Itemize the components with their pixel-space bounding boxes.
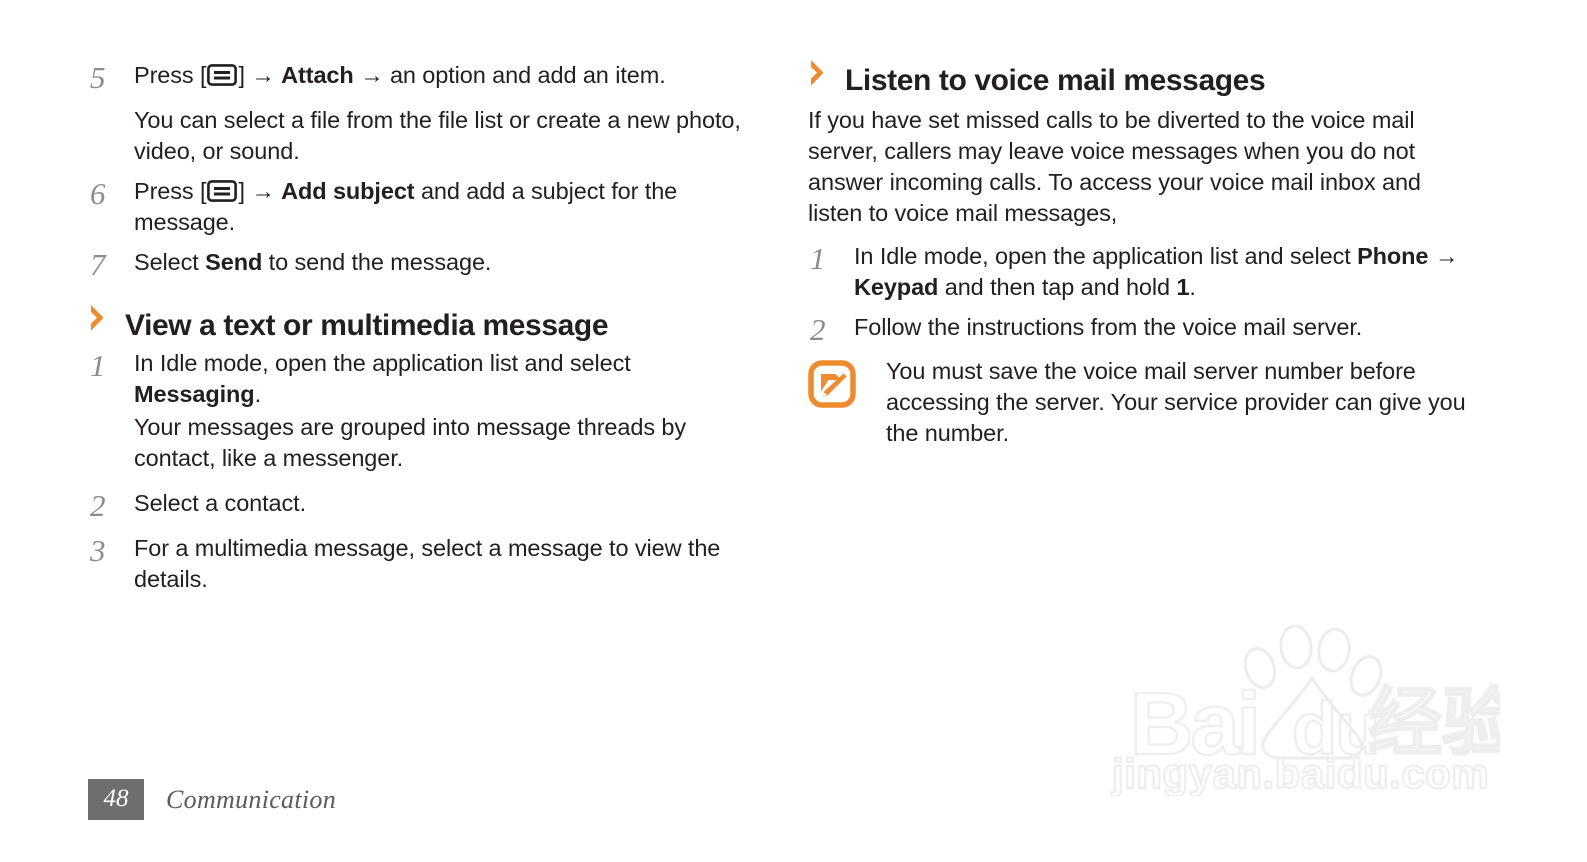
section-heading-voice-mail: Listen to voice mail messages (808, 60, 1468, 97)
list-item: 2 Select a contact. (88, 488, 748, 524)
step-number: 3 (88, 533, 134, 569)
list-item: 2 Follow the instructions from the voice… (808, 312, 1468, 348)
step-tail-text: . (255, 381, 261, 407)
list-item: 1 In Idle mode, open the application lis… (88, 348, 748, 410)
step-text: Follow the instructions from the voice m… (854, 312, 1468, 343)
step-continuation: Your messages are grouped into message t… (134, 412, 748, 474)
svg-text:jingyan.baidu.com: jingyan.baidu.com (1111, 750, 1489, 796)
step-mid-text: and then tap and hold (938, 274, 1176, 300)
step-number: 5 (88, 60, 134, 96)
chapter-label: Communication (166, 785, 336, 815)
step-bold-term-1: Phone (1357, 243, 1428, 269)
step-after-icon-text: ] (238, 62, 251, 88)
step-bold-term-2: Keypad (854, 274, 938, 300)
step-text: Select a contact. (134, 488, 748, 519)
manual-page: 5 Press [] → Attach → an option and add … (0, 0, 1587, 862)
step-bold-term-1: Add subject (281, 178, 414, 204)
chevron-right-icon (808, 58, 827, 88)
step-number: 7 (88, 247, 134, 283)
step-lead-text: Press [ (134, 178, 206, 204)
step-arrow-2: → (354, 62, 390, 88)
menu-key-icon (207, 64, 237, 86)
step-lead-text: Follow the instructions from the voice m… (854, 312, 1468, 343)
step-lead-text: Select a contact. (134, 488, 748, 519)
section-intro-paragraph: If you have set missed calls to be diver… (808, 105, 1468, 229)
note-text: You must save the voice mail server numb… (856, 356, 1468, 449)
svg-text:du: du (1292, 687, 1378, 770)
menu-key-icon (207, 180, 237, 202)
section-title: Listen to voice mail messages (845, 65, 1265, 97)
page-footer: 48 Communication (88, 779, 336, 820)
note-pencil-icon (808, 356, 856, 408)
step-text: For a multimedia message, select a messa… (134, 533, 748, 595)
section-heading-view-message: View a text or multimedia message (88, 305, 748, 342)
step-text: Press [] → Add subject and add a subject… (134, 176, 748, 238)
note-box: You must save the voice mail server numb… (808, 356, 1468, 449)
step-lead-text: Select (134, 249, 205, 275)
step-arrow-1: → (251, 178, 281, 204)
step-text: Select Send to send the message. (134, 247, 748, 278)
left-column: 5 Press [] → Attach → an option and add … (88, 60, 748, 604)
step-tail-text: . (1189, 274, 1195, 300)
step-lead-text: In Idle mode, open the application list … (134, 350, 631, 376)
right-column: Listen to voice mail messages If you hav… (808, 60, 1468, 449)
list-item: 7 Select Send to send the message. (88, 247, 748, 283)
list-item: 1 In Idle mode, open the application lis… (808, 241, 1468, 303)
list-item: 6 Press [] → Add subject and add a subje… (88, 176, 748, 238)
step-bold-term-1: Attach (281, 62, 354, 88)
step-arrow-1: → (251, 62, 281, 88)
step-bold-term-1: Send (205, 249, 262, 275)
step-lead-text: Press [ (134, 62, 206, 88)
step-number: 2 (808, 312, 854, 348)
step-tail-text: to send the message. (262, 249, 491, 275)
list-item: 3 For a multimedia message, select a mes… (88, 533, 748, 595)
step-lead-text: For a multimedia message, select a messa… (134, 533, 748, 595)
step-bold-term-3: 1 (1176, 274, 1189, 300)
step-after-icon-text: ] (238, 178, 251, 204)
step-number: 2 (88, 488, 134, 524)
step-lead-text: In Idle mode, open the application list … (854, 243, 1357, 269)
list-item: 5 Press [] → Attach → an option and add … (88, 60, 748, 96)
step-continuation: You can select a file from the file list… (134, 105, 748, 167)
page-number-badge: 48 (88, 779, 144, 820)
step-number: 1 (88, 348, 134, 384)
chevron-right-icon (88, 303, 107, 333)
step-tail-text: an option and add an item. (390, 62, 666, 88)
step-text: Press [] → Attach → an option and add an… (134, 60, 748, 91)
svg-text:Bai: Bai (1130, 674, 1258, 773)
step-text: In Idle mode, open the application list … (854, 241, 1468, 303)
section-title: View a text or multimedia message (125, 310, 608, 342)
step-number: 6 (88, 176, 134, 212)
step-number: 1 (808, 241, 854, 277)
svg-text:经验: 经验 (1368, 681, 1500, 764)
step-bold-term-1: Messaging (134, 381, 255, 407)
step-text: In Idle mode, open the application list … (134, 348, 748, 410)
step-arrow-1: → (1428, 243, 1458, 269)
baidu-jingyan-watermark: Bai du 经验 jingyan.baidu.com (1100, 606, 1500, 796)
